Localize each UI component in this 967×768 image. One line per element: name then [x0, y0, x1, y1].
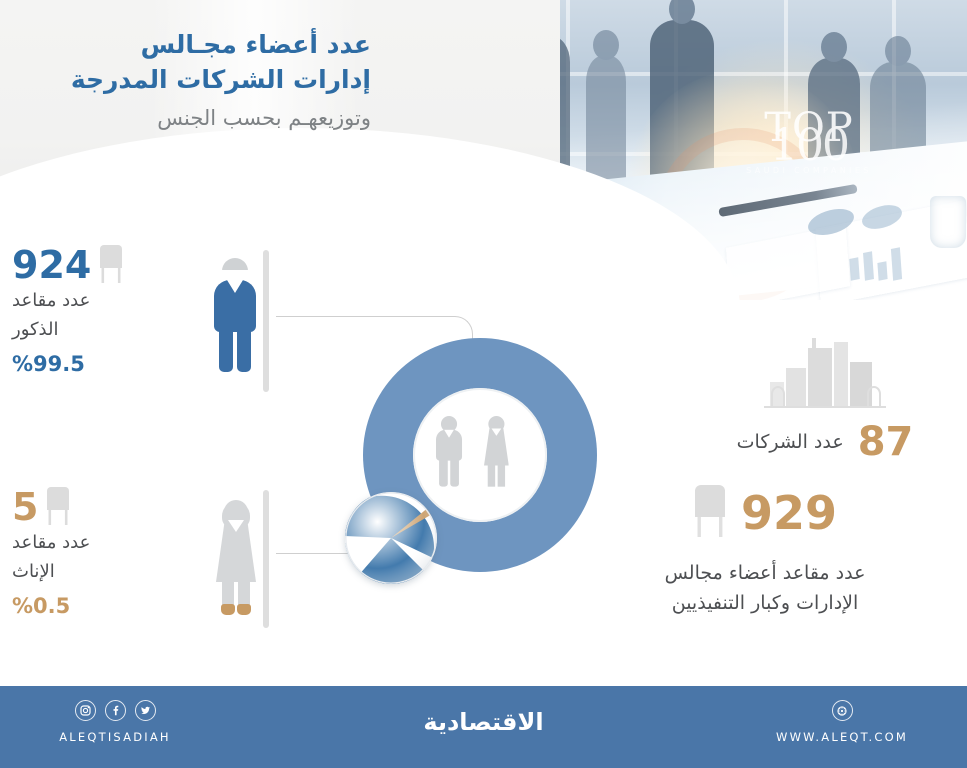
- companies-label: عدد الشركات: [737, 431, 844, 453]
- female-value-row: 5: [12, 482, 192, 526]
- title-line-1: عدد أعضاء مجـالس: [41, 28, 371, 62]
- man-woman-pair-icon: [434, 416, 526, 494]
- female-figure-icon: [216, 500, 260, 616]
- document-bar: [877, 261, 887, 281]
- chair-icon: [98, 244, 124, 284]
- chair-icon-svg: [693, 484, 727, 538]
- buildings-icon-svg: [750, 338, 900, 416]
- glass-icon: [930, 196, 966, 248]
- seats-value-row: 929: [570, 484, 960, 542]
- footer-website-group: WWW.ALEQT.COM: [757, 700, 927, 744]
- female-stat-block: 5 عدد مقاعد الإناث %0.5: [12, 482, 192, 618]
- donut-hole: [413, 388, 547, 522]
- male-value-row: 924: [12, 240, 192, 284]
- document-bar: [849, 257, 860, 280]
- male-seats-value: 924: [12, 246, 91, 284]
- seats-stat-block: 929 عدد مقاعد أعضاء مجالس الإدارات وكبار…: [570, 484, 960, 618]
- pie-magnifier-svg: [345, 492, 437, 584]
- footer-website: WWW.ALEQT.COM: [757, 730, 927, 744]
- chair-icon: [693, 484, 727, 542]
- footer: ALEQTISADIAH الاقتصادية WWW.ALEQT.COM: [0, 686, 967, 768]
- companies-value: 87: [858, 422, 914, 462]
- female-percent: %0.5: [12, 594, 192, 618]
- male-label-line-2: الذكور: [12, 317, 192, 342]
- document-bar: [863, 251, 874, 280]
- male-label-line-1: عدد مقاعد: [12, 288, 192, 313]
- chair-icon-svg: [45, 486, 71, 526]
- companies-value-row: 87 عدد الشركات: [700, 422, 950, 462]
- male-divider-bar: [263, 250, 269, 392]
- watermark-number: 100: [770, 124, 848, 168]
- infographic-root: TOP 100 SAUDI COMPANIES عدد أعضاء مجـالس…: [0, 0, 967, 768]
- male-percent: %99.5: [12, 352, 192, 376]
- male-figure-icon: [214, 258, 260, 376]
- female-label-line-1: عدد مقاعد: [12, 530, 192, 555]
- companies-stat-block: 87 عدد الشركات: [700, 338, 950, 462]
- chair-icon-svg: [98, 244, 124, 284]
- title-line-2: إدارات الشركات المدرجة: [41, 62, 371, 98]
- page-title: عدد أعضاء مجـالس إدارات الشركات المدرجة …: [41, 28, 371, 136]
- male-stat-block: 924 عدد مقاعد الذكور %99.5: [12, 240, 192, 376]
- seats-label-line-1: عدد مقاعد أعضاء مجالس: [570, 558, 960, 588]
- seats-value: 929: [741, 490, 837, 536]
- watermark-subtitle: SAUDI COMPANIES: [746, 166, 872, 175]
- chair-icon: [45, 486, 71, 526]
- buildings-icon: [700, 338, 950, 420]
- title-line-3: وتوزيعهـم بحسب الجنس: [41, 100, 371, 136]
- pie-magnifier: [345, 492, 437, 584]
- female-label-line-2: الإناث: [12, 559, 192, 584]
- top100-watermark: TOP 100 SAUDI COMPANIES: [734, 108, 884, 180]
- female-seats-value: 5: [12, 488, 38, 526]
- globe-icon[interactable]: [832, 700, 853, 721]
- female-divider-bar: [263, 490, 269, 628]
- seats-label-line-2: الإدارات وكبار التنفيذيين: [570, 588, 960, 618]
